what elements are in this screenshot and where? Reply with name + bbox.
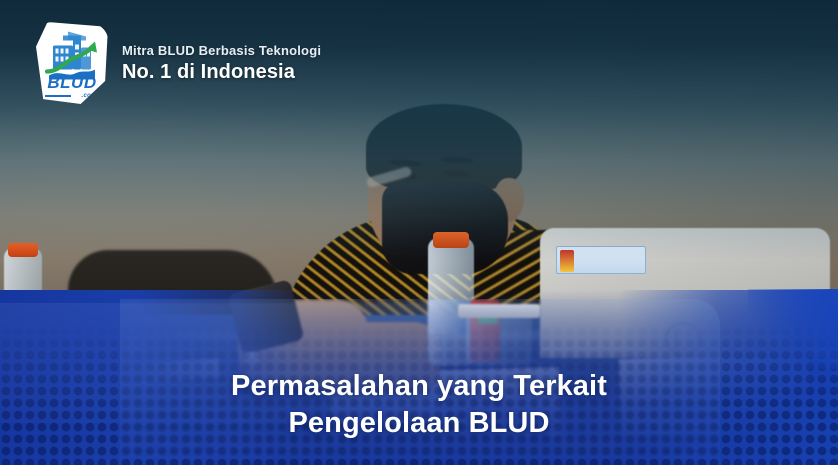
title-line-1: Permasalahan yang Terkait: [0, 368, 838, 406]
page-title: Permasalahan yang Terkait Pengelolaan BL…: [0, 368, 838, 443]
blud-logo[interactable]: BLUD .co.id: [36, 22, 108, 104]
logo-tld: .co.id: [82, 93, 99, 99]
promo-banner: Mushlihin Shahida: [0, 0, 838, 465]
title-line-2: Pengelolaan BLUD: [0, 405, 838, 443]
brand-text-block: Mitra BLUD Berbasis Teknologi No. 1 di I…: [122, 43, 321, 84]
brand-lockup[interactable]: BLUD .co.id Mitra BLUD Berbasis Teknolog…: [36, 22, 321, 104]
logo-wordmark: BLUD: [36, 74, 108, 91]
brand-headline: No. 1 di Indonesia: [122, 61, 321, 84]
logo-underline: [45, 95, 71, 97]
brand-tagline: Mitra BLUD Berbasis Teknologi: [122, 43, 321, 58]
corner-wedge-accent: [748, 289, 838, 369]
